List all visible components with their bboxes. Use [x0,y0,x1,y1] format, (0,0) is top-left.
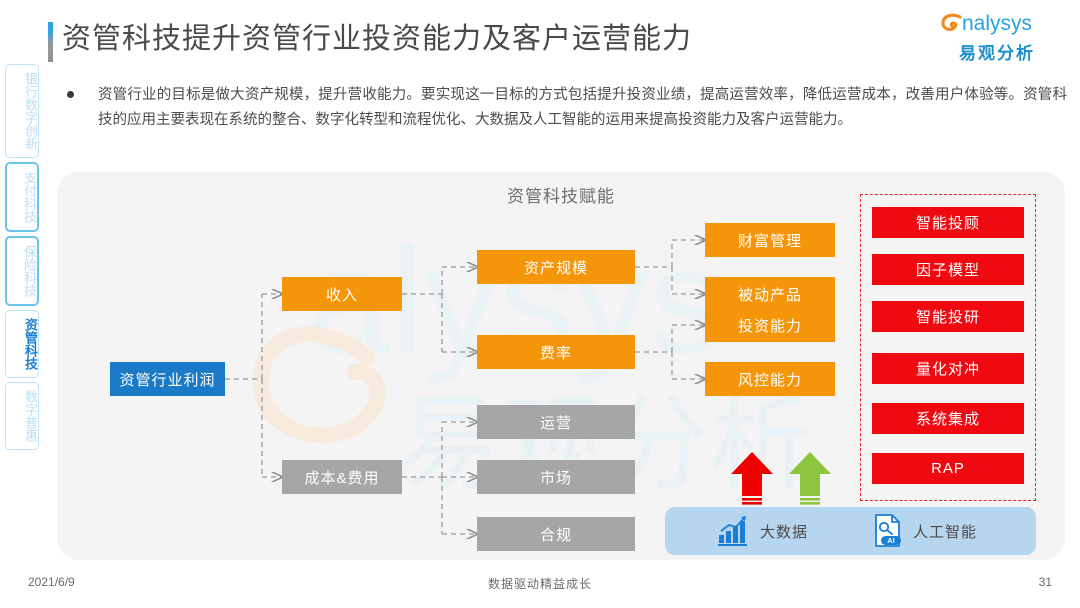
node-revenue[interactable]: 收入 [282,277,402,311]
footer-page-number: 31 [1039,575,1052,589]
sidebar-item-asset-management-tech[interactable]: 资管科技 [5,310,39,378]
node-factor-model[interactable]: 因子模型 [872,254,1024,285]
red-up-arrow-icon [729,450,775,508]
node-quant-hedging[interactable]: 量化对冲 [872,353,1024,384]
bullet-text: 资管行业的目标是做大资产规模，提升营收能力。要实现这一目标的方式包括提升投资业绩… [98,83,1067,133]
node-root-profit[interactable]: 资管行业利润 [110,362,225,396]
foundation-label-bigdata: 大数据 [760,521,808,542]
green-up-arrow-icon [787,450,833,508]
foundation-label-ai: 人工智能 [913,521,977,542]
node-cost-expense[interactable]: 成本&费用 [282,460,402,494]
sidebar-item-digital-inclusive[interactable]: 数字普惠 [5,382,39,450]
node-passive-products[interactable]: 被动产品 [705,277,835,311]
bullet-dot-icon [67,91,74,98]
node-risk-control-capability[interactable]: 风控能力 [705,362,835,396]
logo-swoosh-icon [940,12,964,36]
bar-chart-icon [717,515,751,547]
sidebar-item-bank-digital-innovation[interactable]: 银行数字创新 [5,64,39,158]
analysys-logo: nalysys 易观分析 [932,12,1062,62]
title-accent-bar [48,22,53,62]
node-smart-research[interactable]: 智能投研 [872,301,1024,332]
logo-cn-text: 易观分析 [932,39,1062,64]
node-rap[interactable]: RAP [872,453,1024,484]
sidebar-item-payment-tech[interactable]: 支付科技 [5,162,39,232]
diagram-card: alysys 易观分析 资管科技赋能 [57,172,1065,560]
node-wealth-management[interactable]: 财富管理 [705,223,835,257]
foundation-panel: 大数据 AI 人工智能 [665,507,1036,555]
page-footer: 2021/6/9 数据驱动精益成长 31 [0,575,1080,608]
node-system-integration[interactable]: 系统集成 [872,403,1024,434]
sidebar: 银行数字创新 支付科技 保险科技 资管科技 数字普惠 [4,64,40,454]
node-compliance[interactable]: 合规 [477,517,635,551]
bullet-paragraph: 资管行业的目标是做大资产规模，提升营收能力。要实现这一目标的方式包括提升投资业绩… [62,83,1067,133]
footer-slogan: 数据驱动精益成长 [0,575,1080,592]
page-header: 资管科技提升资管行业投资能力及客户运营能力 nalysys 易观分析 [0,0,1080,70]
node-investment-capability[interactable]: 投资能力 [705,308,835,342]
logo-wordmark: nalysys [932,12,1062,38]
foundation-item-ai[interactable]: AI 人工智能 [872,513,977,549]
node-asset-scale[interactable]: 资产规模 [477,250,635,284]
node-fee-rate[interactable]: 费率 [477,335,635,369]
node-market[interactable]: 市场 [477,460,635,494]
page-title: 资管科技提升资管行业投资能力及客户运营能力 [62,17,692,62]
sidebar-item-insurance-tech[interactable]: 保险科技 [5,236,39,306]
node-robo-advisor[interactable]: 智能投顾 [872,207,1024,238]
node-operations[interactable]: 运营 [477,405,635,439]
svg-text:AI: AI [887,536,894,545]
logo-en-text: nalysys [962,12,1032,36]
ai-document-icon: AI [872,513,904,549]
foundation-item-bigdata[interactable]: 大数据 [717,515,808,547]
